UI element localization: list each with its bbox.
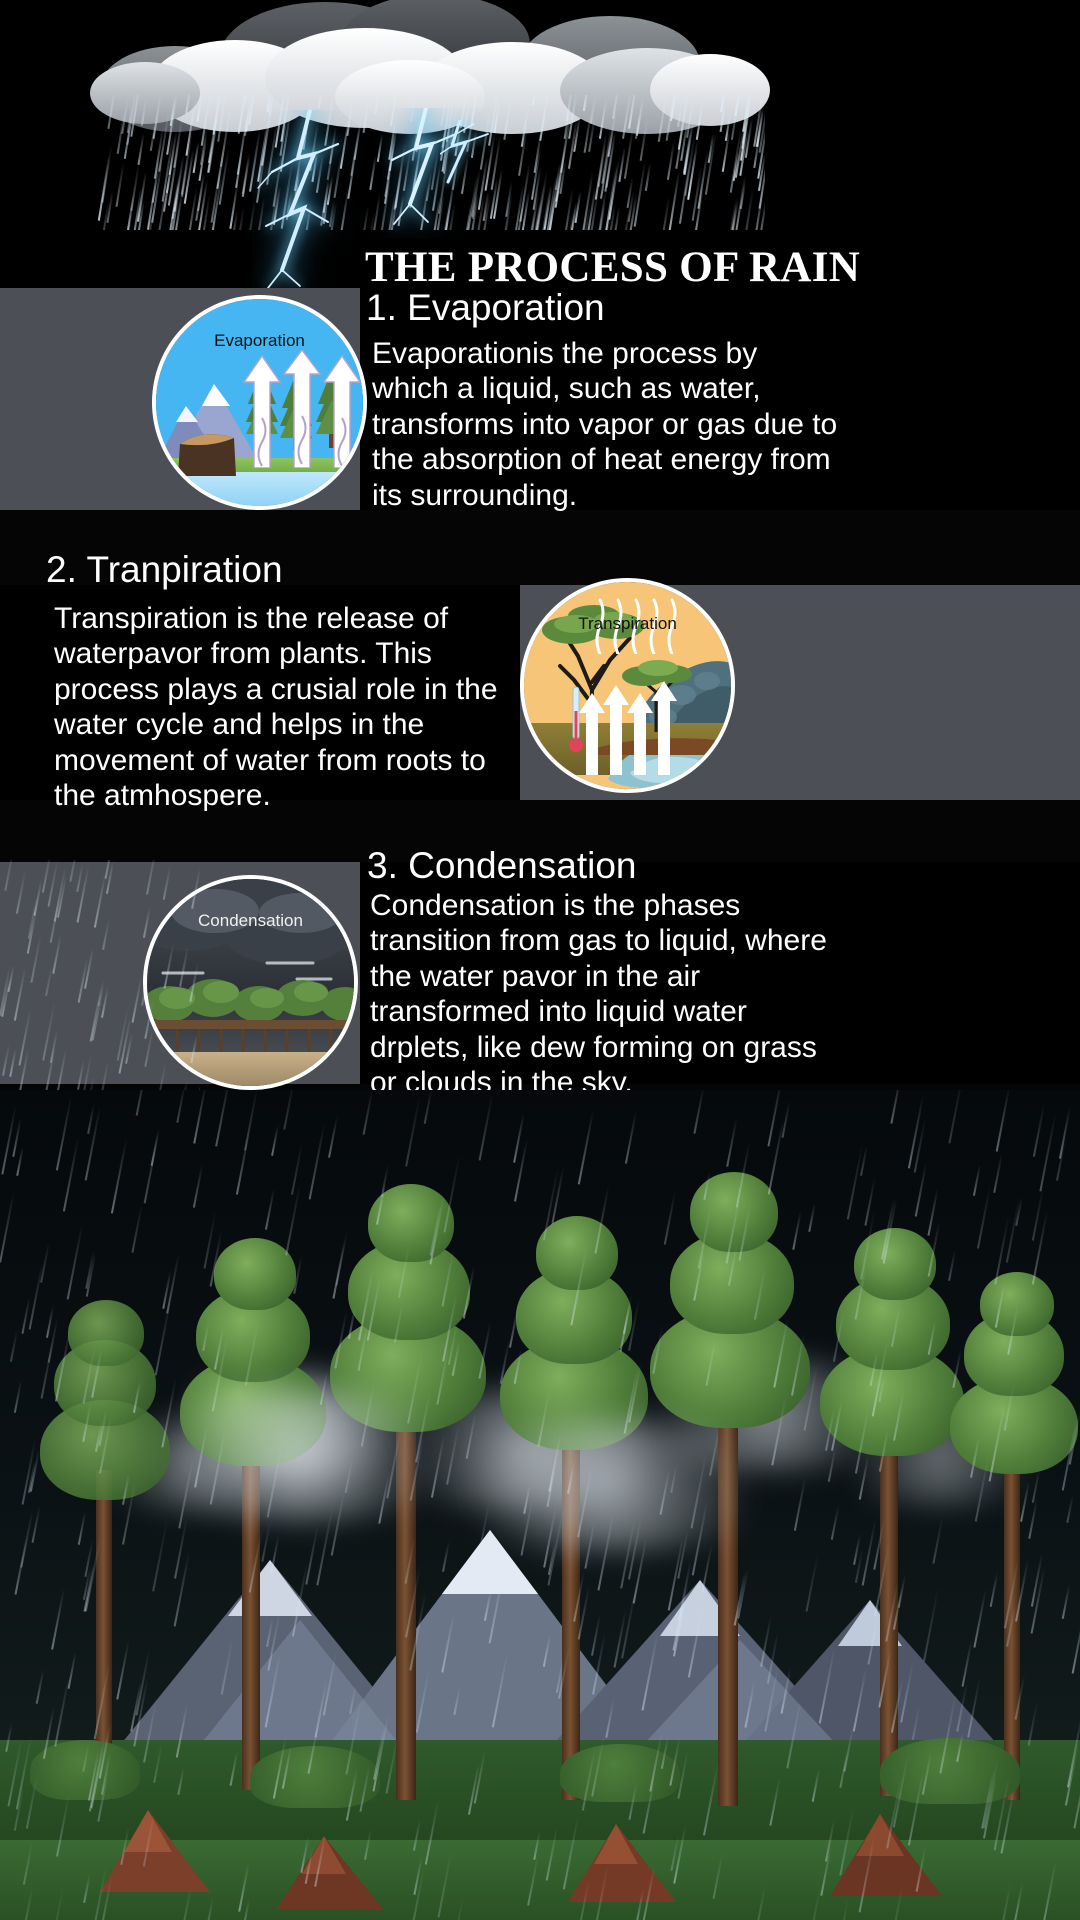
evaporation-body: Evaporationis the process by which a liq… bbox=[372, 336, 842, 513]
transpiration-circle-label: Transpiration bbox=[524, 614, 731, 634]
condensation-circle-label: Condensation bbox=[147, 911, 354, 931]
condensation-heading: 3. Condensation bbox=[367, 845, 636, 887]
forest-illustration bbox=[0, 1090, 1080, 1920]
transpiration-body: Transpiration is the release of waterpav… bbox=[54, 601, 524, 813]
condensation-body: Condensation is the phases transition fr… bbox=[370, 888, 840, 1100]
lightning-bolt-right bbox=[440, 120, 530, 200]
evaporation-heading: 1. Evaporation bbox=[366, 287, 605, 329]
rain-streaks-left bbox=[0, 860, 200, 1100]
page-title: THE PROCESS OF RAIN bbox=[365, 243, 860, 292]
evaporation-illustration: Evaporation bbox=[152, 295, 367, 510]
transpiration-heading: 2. Tranpiration bbox=[46, 549, 283, 591]
lightning-bolt-left bbox=[252, 110, 382, 290]
infographic-canvas: Evaporation THE PROCESS OF RAIN 1. Evapo… bbox=[0, 0, 1080, 1920]
evaporation-circle-label: Evaporation bbox=[156, 331, 363, 351]
transpiration-illustration: Transpiration bbox=[520, 578, 735, 793]
